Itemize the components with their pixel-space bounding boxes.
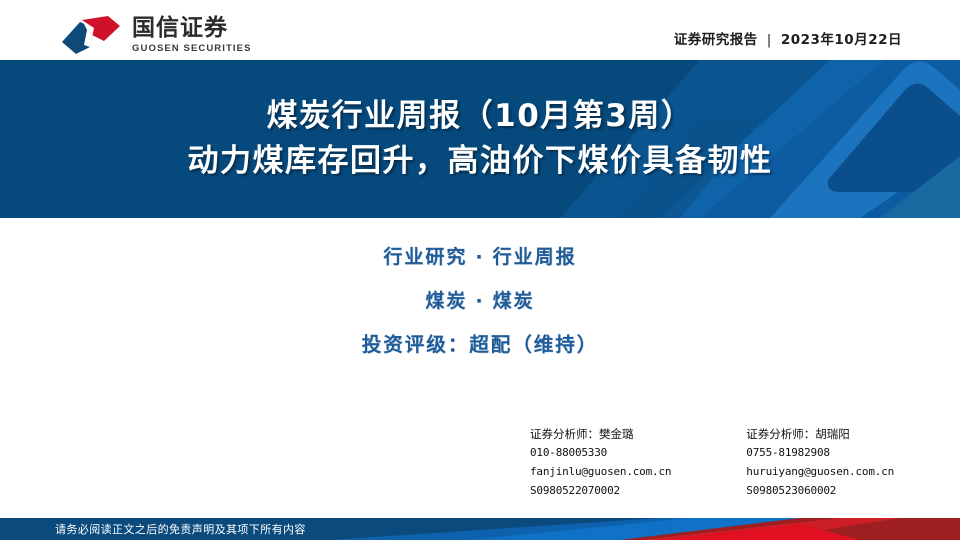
analyst-license: S0980522070002 — [530, 482, 671, 501]
page-header: 国信证券 GUOSEN SECURITIES 证券研究报告|2023年10月22… — [0, 0, 960, 60]
banner-title-block: 煤炭行业周报（10月第3周） 动力煤库存回升，高油价下煤价具备韧性 — [0, 60, 960, 218]
report-type-label: 证券研究报告 — [674, 32, 758, 48]
report-title-line-2: 动力煤库存回升，高油价下煤价具备韧性 — [188, 141, 773, 182]
analyst-name: 证券分析师：樊金璐 — [530, 424, 671, 444]
analyst-phone: 010-88005330 — [530, 444, 671, 463]
guosen-logo-icon — [60, 14, 122, 56]
report-title-line-1: 煤炭行业周报（10月第3周） — [267, 96, 694, 137]
research-category-left: 行业研究 — [383, 246, 467, 268]
analyst-email: huruiyang@guosen.com.cn — [746, 463, 894, 482]
category-dot-1: · — [467, 246, 492, 268]
title-banner: 煤炭行业周报（10月第3周） 动力煤库存回升，高油价下煤价具备韧性 — [0, 60, 960, 218]
brand-name-cn: 国信证券 — [132, 16, 252, 40]
industry-left: 煤炭 — [425, 290, 467, 312]
report-date: 2023年10月22日 — [781, 32, 902, 48]
analyst-card: 证券分析师：胡瑞阳 0755-81982908 huruiyang@guosen… — [746, 424, 894, 501]
brand-logo-text: 国信证券 GUOSEN SECURITIES — [132, 16, 252, 53]
investment-rating: 投资评级：超配（维持） — [362, 323, 599, 368]
analyst-name: 证券分析师：胡瑞阳 — [746, 424, 894, 444]
industry-right: 煤炭 — [493, 290, 535, 312]
header-separator: | — [758, 32, 781, 48]
analyst-card: 证券分析师：樊金璐 010-88005330 fanjinlu@guosen.c… — [530, 424, 671, 501]
category-dot-2: · — [467, 290, 492, 312]
report-cover-page: 国信证券 GUOSEN SECURITIES 证券研究报告|2023年10月22… — [0, 0, 960, 540]
research-category-right: 行业周报 — [493, 246, 577, 268]
research-category-line: 行业研究·行业周报 — [383, 236, 576, 280]
brand-name-en: GUOSEN SECURITIES — [132, 43, 252, 54]
analyst-license: S0980523060002 — [746, 482, 894, 501]
analyst-phone: 0755-81982908 — [746, 444, 894, 463]
page-footer: 请务必阅读正文之后的免责声明及其项下所有内容 — [0, 518, 960, 540]
analyst-email: fanjinlu@guosen.com.cn — [530, 463, 671, 482]
header-report-meta: 证券研究报告|2023年10月22日 — [674, 28, 902, 48]
industry-line: 煤炭·煤炭 — [425, 280, 534, 324]
footer-disclaimer: 请务必阅读正文之后的免责声明及其项下所有内容 — [55, 518, 306, 540]
report-classification-block: 行业研究·行业周报 煤炭·煤炭 投资评级：超配（维持） — [0, 236, 960, 368]
analyst-contact-block: 证券分析师：樊金璐 010-88005330 fanjinlu@guosen.c… — [530, 424, 950, 501]
brand-logo: 国信证券 GUOSEN SECURITIES — [60, 14, 252, 56]
